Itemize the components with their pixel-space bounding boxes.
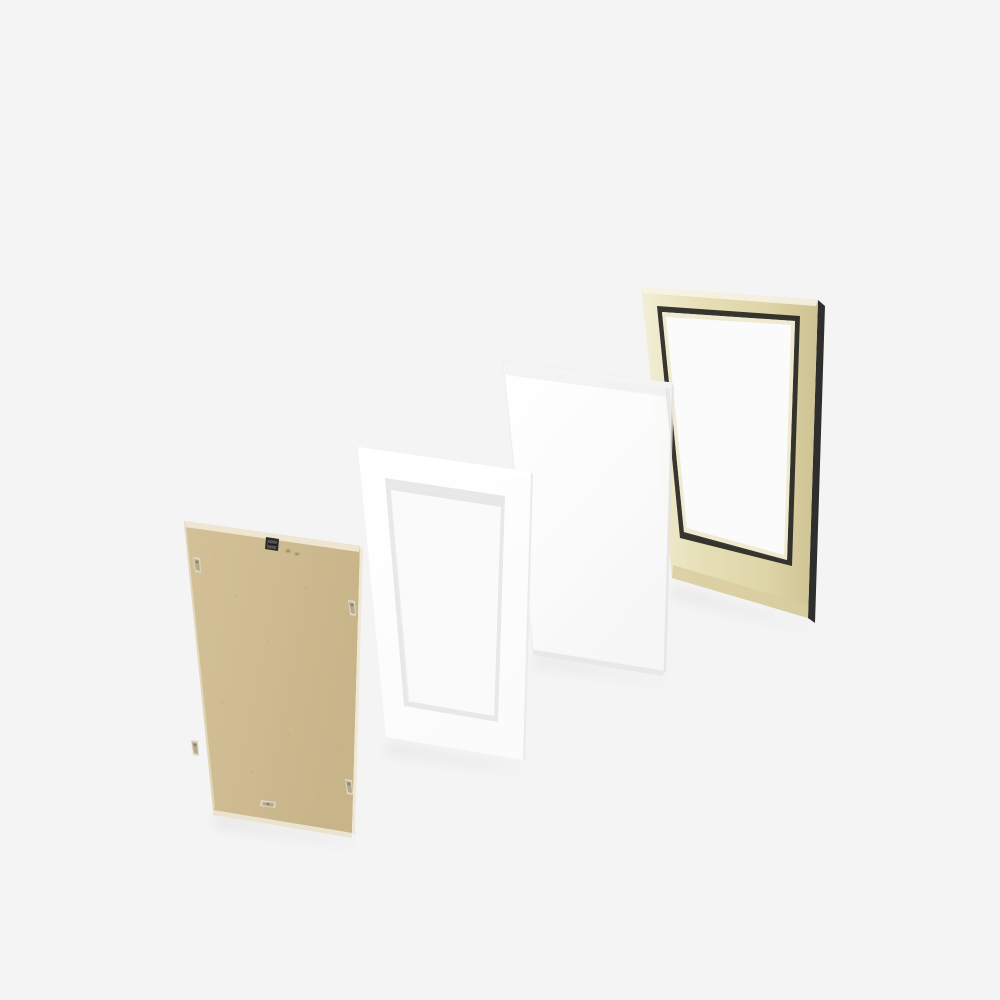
exploded-frame-diagram xyxy=(0,0,1000,1000)
hanging-bracket-icon xyxy=(265,537,279,551)
product-image-canvas: HIGH QUALITY PROTECTION Keep your photos… xyxy=(0,0,1000,1000)
